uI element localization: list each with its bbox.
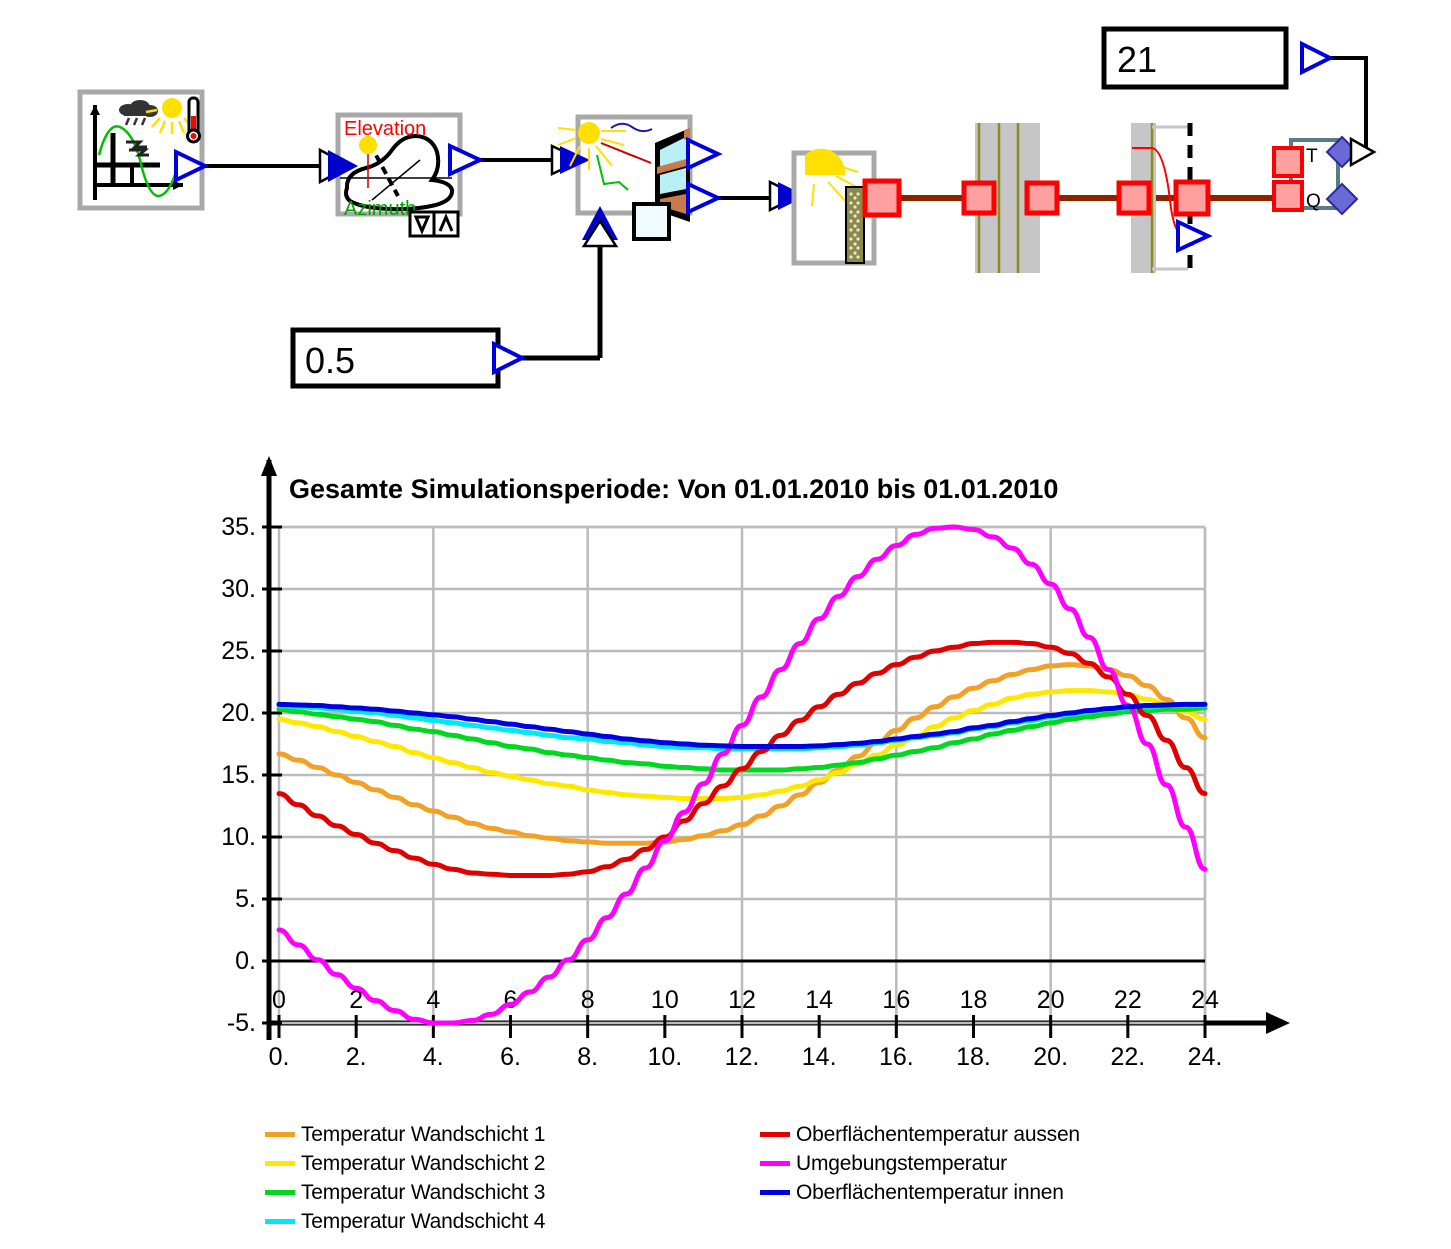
y-tick-label: 5.	[235, 885, 256, 913]
elevation-label: Elevation	[344, 118, 426, 140]
weather-data-block[interactable]	[80, 92, 205, 208]
legend-item[interactable]: Temperatur Wandschicht 1	[265, 1120, 545, 1149]
legend-item[interactable]: Umgebungstemperatur	[760, 1149, 1080, 1178]
absorber-thermal-port[interactable]	[865, 181, 899, 215]
chart-gridlines	[279, 527, 1205, 1023]
x-tick-label-below: 22.	[1110, 1043, 1145, 1071]
legend-item-label: Temperatur Wandschicht 3	[301, 1181, 545, 1205]
x-axis-arrow	[1266, 1012, 1290, 1034]
x-tick-label-above: 20	[1037, 986, 1065, 1014]
legend-color-swatch	[265, 1219, 295, 1224]
legend-item-label: Umgebungstemperatur	[796, 1152, 1007, 1176]
x-tick-label-below: 8.	[577, 1043, 598, 1071]
y-tick-label: 0.	[235, 947, 256, 975]
x-tick-label-above: 4	[426, 986, 440, 1014]
y-tick-label: -5.	[227, 1009, 256, 1037]
sun-block-output-connector[interactable]	[450, 146, 480, 174]
sun-position-block[interactable]: Elevation Azimuth	[320, 115, 480, 236]
x-tick-label-above: 14	[805, 986, 833, 1014]
legend-item-label: Temperatur Wandschicht 2	[301, 1152, 545, 1176]
chart-legend: Temperatur Wandschicht 1Temperatur Wands…	[0, 1120, 1451, 1249]
const21-value: 21	[1117, 39, 1157, 80]
window-output-connector-2[interactable]	[688, 184, 718, 212]
x-tick-label-above: 0	[272, 986, 286, 1014]
window-output-connector-1[interactable]	[688, 140, 718, 168]
legend-item[interactable]: Oberflächentemperatur aussen	[760, 1120, 1080, 1149]
x-tick-label-below: 10.	[647, 1043, 682, 1071]
x-tick-label-below: 24.	[1188, 1043, 1223, 1071]
legend-item[interactable]: Oberflächentemperatur innen	[760, 1178, 1080, 1207]
model-schematic: Elevation Azimuth	[0, 0, 1451, 430]
x-tick-label-above: 16	[882, 986, 910, 1014]
legend-item[interactable]: Temperatur Wandschicht 2	[265, 1149, 545, 1178]
wall-port-left[interactable]	[964, 183, 994, 213]
solar-radiation-window-block[interactable]	[552, 117, 718, 246]
y-tick-label: 35.	[221, 513, 256, 541]
x-tick-label-below: 14.	[802, 1043, 837, 1071]
boundary-port-T[interactable]	[1274, 148, 1302, 176]
convection-output-connector[interactable]	[1178, 222, 1208, 250]
chart-title: Gesamte Simulationsperiode: Von 01.01.20…	[289, 474, 1058, 504]
x-tick-label-above: 12	[728, 986, 756, 1014]
const05-value: 0.5	[305, 340, 355, 381]
chart-canvas: -5.0.5.10.15.20.25.30.35. 00.22.44.66.88…	[0, 430, 1451, 1120]
legend-color-swatch	[265, 1161, 295, 1166]
legend-item-label: Temperatur Wandschicht 4	[301, 1210, 545, 1234]
x-tick-label-above: 8	[581, 986, 595, 1014]
x-tick-label-below: 2.	[346, 1043, 367, 1071]
y-tick-label: 15.	[221, 761, 256, 789]
y-tick-label: 30.	[221, 575, 256, 603]
x-tick-label-below: 18.	[956, 1043, 991, 1071]
legend-color-swatch	[760, 1132, 790, 1137]
azimuth-label: Azimuth	[344, 198, 416, 220]
x-tick-label-below: 20.	[1033, 1043, 1068, 1071]
legend-item-label: Oberflächentemperatur aussen	[796, 1123, 1080, 1147]
constant-block-21[interactable]: 21	[1104, 29, 1330, 87]
y-tick-label: 20.	[221, 699, 256, 727]
legend-item-label: Oberflächentemperatur innen	[796, 1181, 1064, 1205]
x-tick-label-above: 24	[1191, 986, 1219, 1014]
solar-absorber-block[interactable]	[770, 149, 899, 264]
constant-block-05[interactable]: 0.5	[293, 330, 522, 386]
boundary-label-Q: Q	[1306, 191, 1321, 212]
const05-output-connector[interactable]	[494, 344, 522, 372]
boundary-port-Q[interactable]	[1274, 182, 1302, 210]
y-tick-label: 10.	[221, 823, 256, 851]
x-tick-label-above: 10	[651, 986, 679, 1014]
boundary-input-connector[interactable]	[1351, 139, 1374, 165]
x-tick-label-below: 4.	[423, 1043, 444, 1071]
legend-item[interactable]: Temperatur Wandschicht 3	[265, 1178, 545, 1207]
legend-column-left: Temperatur Wandschicht 1Temperatur Wands…	[265, 1120, 545, 1236]
wall-port-right[interactable]	[1027, 183, 1057, 213]
convection-port-left[interactable]	[1119, 183, 1149, 213]
legend-color-swatch	[265, 1190, 295, 1195]
window-sun-icon	[578, 122, 600, 144]
x-tick-label-above: 18	[960, 986, 988, 1014]
convection-port-right[interactable]	[1176, 182, 1208, 214]
legend-color-swatch	[265, 1132, 295, 1137]
x-tick-label-below: 12.	[725, 1043, 760, 1071]
chart-x-ticks: 00.22.44.66.88.1010.1212.1414.1616.1818.…	[269, 986, 1223, 1071]
legend-color-swatch	[760, 1190, 790, 1195]
boundary-label-T: T	[1306, 146, 1318, 167]
x-tick-label-above: 22	[1114, 986, 1142, 1014]
legend-column-right: Oberflächentemperatur aussenUmgebungstem…	[760, 1120, 1080, 1207]
x-tick-label-below: 16.	[879, 1043, 914, 1071]
sun-block-toggle-group[interactable]	[410, 212, 458, 236]
x-tick-label-below: 0.	[269, 1043, 290, 1071]
y-axis-arrow	[261, 456, 277, 476]
thermometer-icon	[188, 98, 200, 142]
chart-y-ticks: -5.0.5.10.15.20.25.30.35.	[221, 513, 282, 1037]
y-tick-label: 25.	[221, 637, 256, 665]
legend-item[interactable]: Temperatur Wandschicht 4	[265, 1207, 545, 1236]
x-tick-label-below: 6.	[500, 1043, 521, 1071]
thermal-boundary-block[interactable]: T Q	[1274, 137, 1374, 214]
window-state-box[interactable]	[634, 204, 669, 239]
legend-color-swatch	[760, 1161, 790, 1166]
wall-layers-block[interactable]	[964, 123, 1057, 273]
const21-output-connector[interactable]	[1302, 44, 1330, 72]
wire-const21-to-boundary	[1310, 58, 1366, 152]
schematic-canvas: Elevation Azimuth	[0, 0, 1451, 430]
legend-item-label: Temperatur Wandschicht 1	[301, 1123, 545, 1147]
